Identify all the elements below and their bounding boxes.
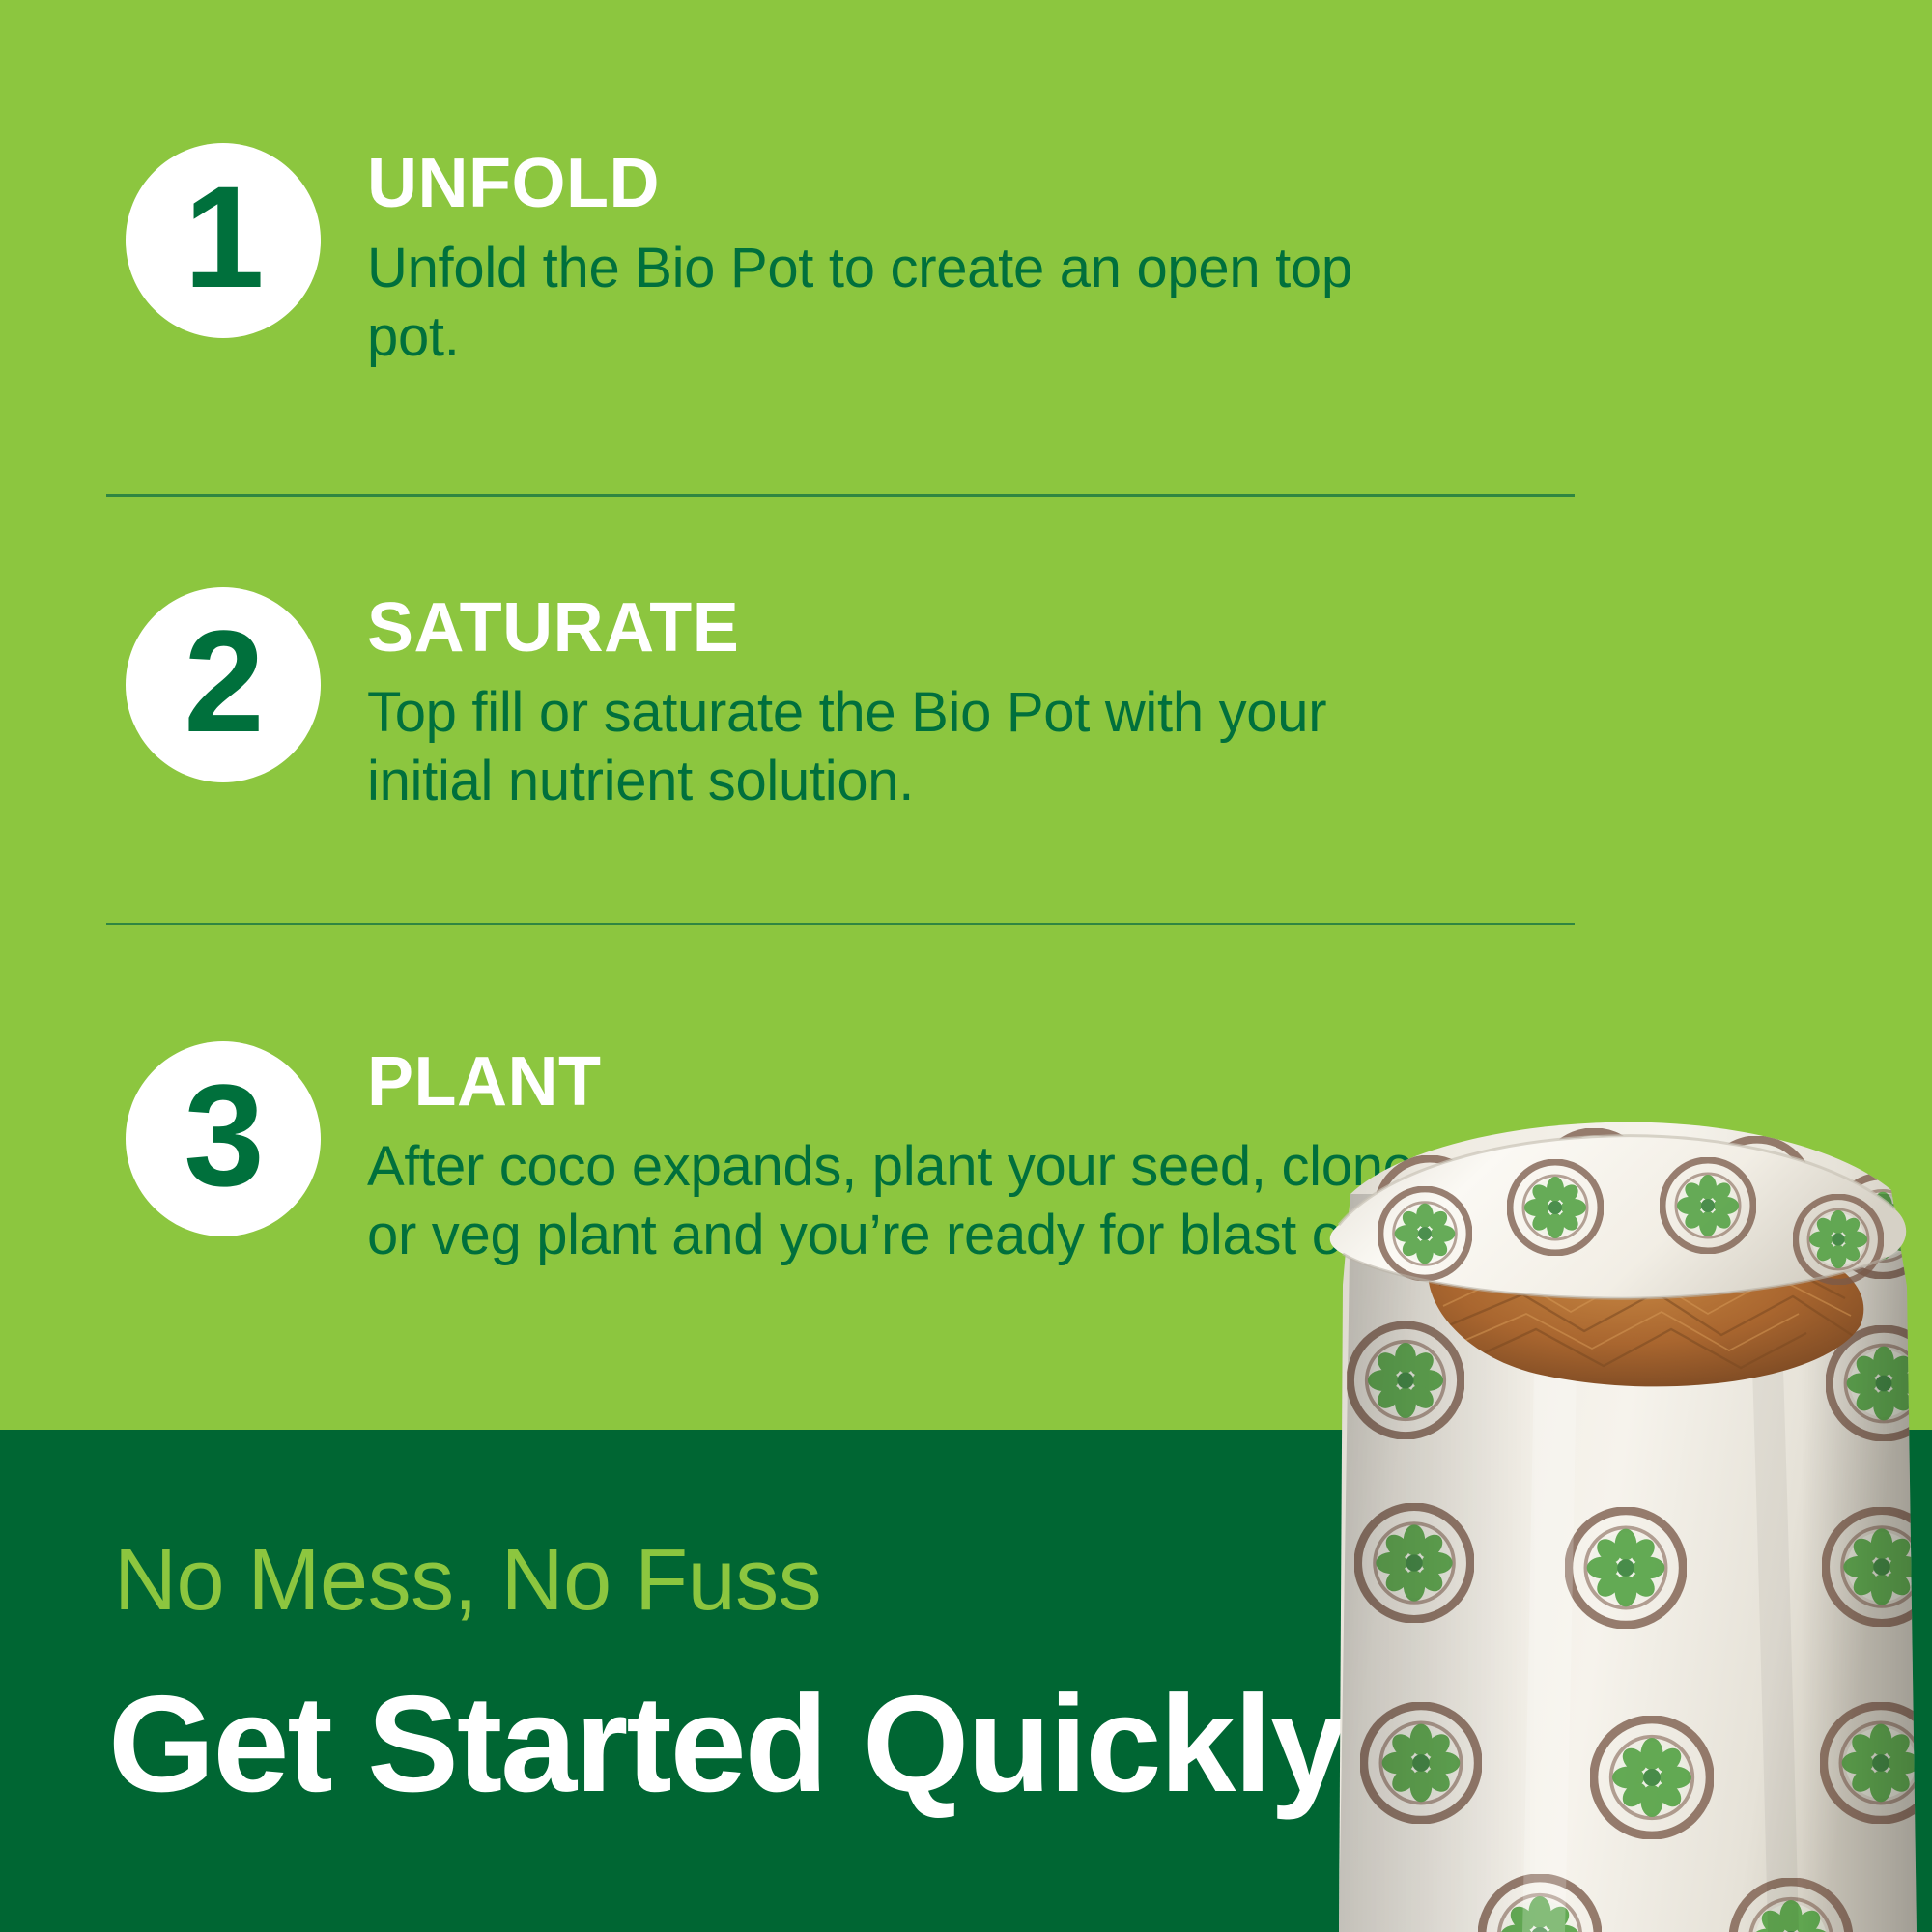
infographic-canvas: 1 UNFOLD Unfold the Bio Pot to create an… <box>0 0 1932 1932</box>
step-text-block-1: UNFOLD Unfold the Bio Pot to create an o… <box>367 143 1449 372</box>
steps-panel: 1 UNFOLD Unfold the Bio Pot to create an… <box>0 0 1932 1430</box>
footer-headline: Get Started Quickly <box>108 1676 1345 1813</box>
step-text-block-3: PLANT After coco expands, plant your see… <box>367 1041 1449 1270</box>
step-item-saturate: 2 SATURATE Top fill or saturate the Bio … <box>126 587 1449 816</box>
step-number-3: 3 <box>184 1063 262 1207</box>
step-number-badge-3: 3 <box>126 1041 321 1236</box>
step-divider-1 <box>106 494 1575 497</box>
step-title-2: SATURATE <box>367 593 1449 663</box>
step-number-badge-1: 1 <box>126 143 321 338</box>
step-title-1: UNFOLD <box>367 149 1449 218</box>
step-divider-2 <box>106 923 1575 925</box>
footer-tagline: No Mess, No Fuss <box>114 1537 821 1624</box>
step-description-3: After coco expands, plant your seed, clo… <box>367 1132 1449 1270</box>
step-title-3: PLANT <box>367 1047 1449 1117</box>
step-description-1: Unfold the Bio Pot to create an open top… <box>367 234 1449 372</box>
step-item-plant: 3 PLANT After coco expands, plant your s… <box>126 1041 1449 1270</box>
step-number-1: 1 <box>184 164 262 309</box>
step-description-2: Top fill or saturate the Bio Pot with yo… <box>367 678 1449 816</box>
step-number-badge-2: 2 <box>126 587 321 782</box>
step-text-block-2: SATURATE Top fill or saturate the Bio Po… <box>367 587 1449 816</box>
step-item-unfold: 1 UNFOLD Unfold the Bio Pot to create an… <box>126 143 1449 372</box>
step-number-2: 2 <box>184 609 262 753</box>
